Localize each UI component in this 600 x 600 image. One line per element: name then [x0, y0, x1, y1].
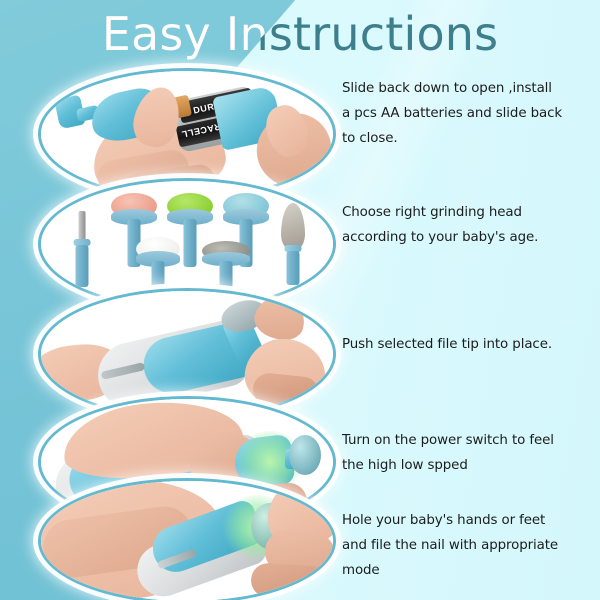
- step-5-photo-oval: [38, 478, 336, 600]
- page-title: Easy Instructions Easy Instructions: [0, 0, 600, 72]
- caption-line: Turn on the power switch to feel: [342, 428, 592, 453]
- photo-filing-baby-nail-with-device: [39, 479, 335, 600]
- caption-line: Hole your baby's hands or feet: [342, 508, 592, 533]
- head-stem: [287, 251, 300, 285]
- caption-line: Slide back down to open ,install: [342, 76, 592, 101]
- step-1-caption: Slide back down to open ,install a pcs A…: [342, 76, 592, 151]
- caption-line: and file the nail with appropriate: [342, 533, 592, 558]
- step-2-caption: Choose right grinding head according to …: [342, 200, 592, 250]
- grinding-head-metal-drill-bit: [67, 211, 97, 289]
- drill-bit-tip: [79, 211, 86, 241]
- head-stem: [184, 219, 197, 267]
- caption-line: the high low spped: [342, 453, 592, 478]
- step-4-caption: Turn on the power switch to feel the hig…: [342, 428, 592, 478]
- caption-line: Push selected file tip into place.: [342, 332, 592, 357]
- caption-line: mode: [342, 558, 592, 583]
- head-stem: [76, 245, 89, 287]
- cone-abrasive-tip: [281, 203, 305, 249]
- step-3-caption: Push selected file tip into place.: [342, 332, 592, 357]
- caption-line: to close.: [342, 126, 592, 151]
- caption-line: according to your baby's age.: [342, 225, 592, 250]
- step-5-caption: Hole your baby's hands or feet and file …: [342, 508, 592, 583]
- baby-finger: [250, 562, 335, 600]
- attached-file-head: [289, 435, 321, 475]
- caption-line: a pcs AA batteries and slide back: [342, 101, 592, 126]
- caption-line: Choose right grinding head: [342, 200, 592, 225]
- grinding-head-grey-cone-bit: [273, 203, 313, 287]
- instructions-poster: Easy Instructions Easy Instructions DURA…: [0, 0, 600, 600]
